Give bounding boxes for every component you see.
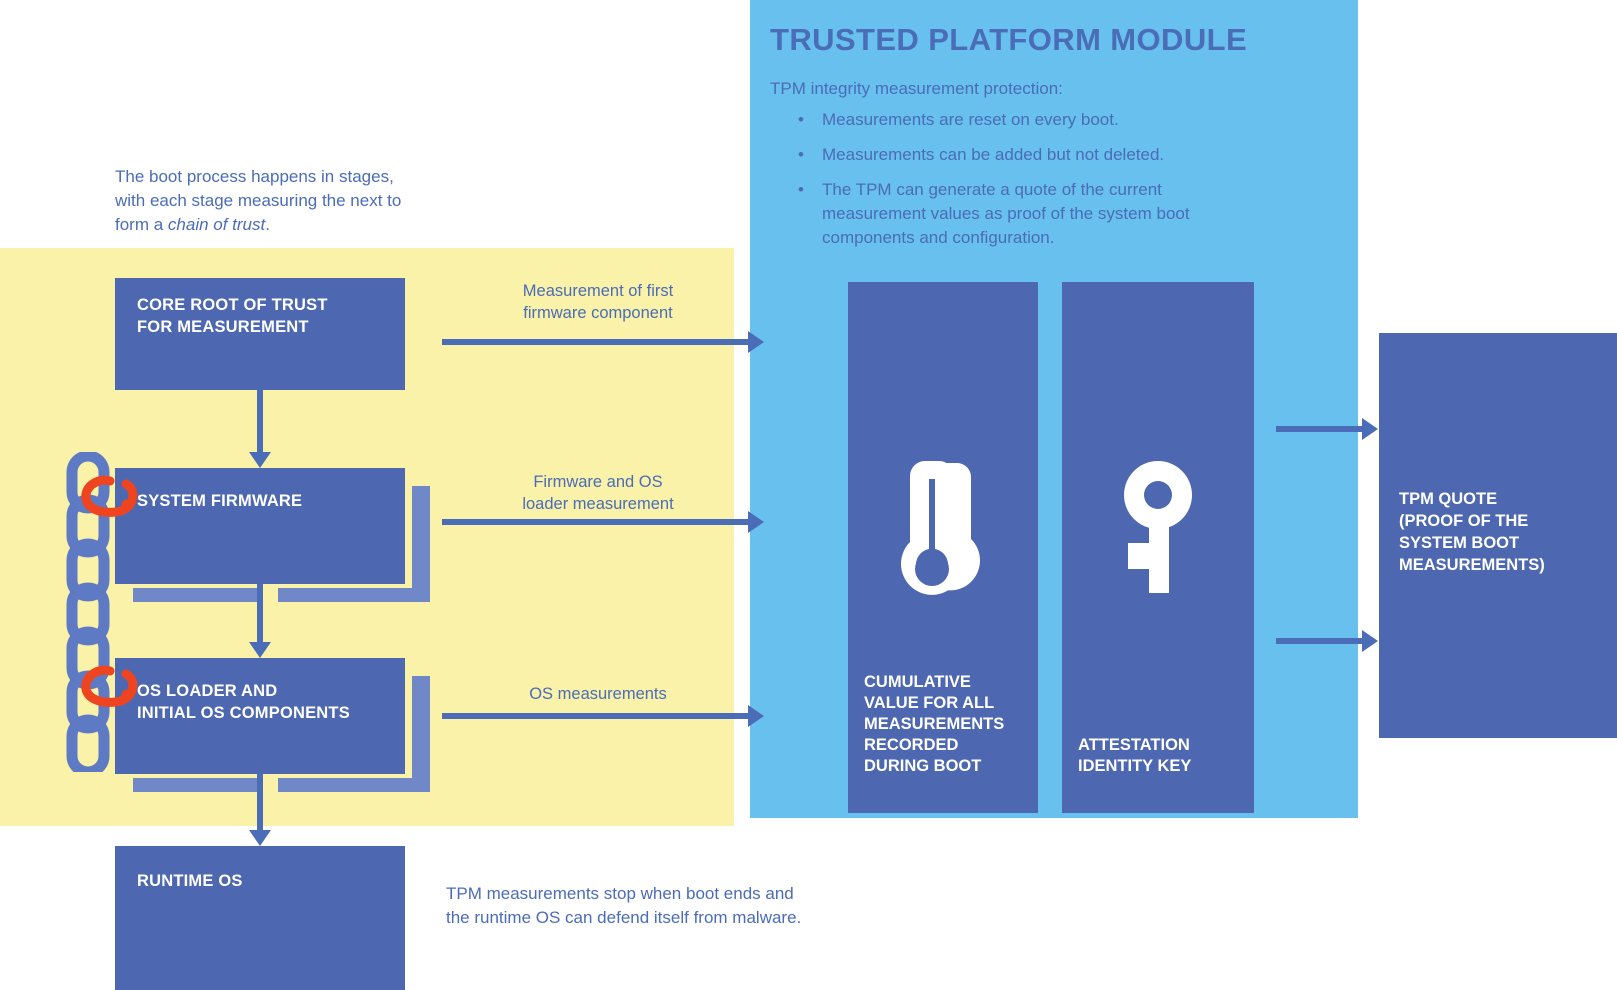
footer-note: TPM measurements stop when boot ends and… <box>446 882 866 930</box>
tpm-panel-subtitle: TPM integrity measurement protection: <box>770 77 1063 101</box>
tpm-quote-label: TPM QUOTE (PROOF OF THE SYSTEM BOOT MEAS… <box>1399 488 1545 576</box>
tpm-inner-label-cumulative-value: CUMULATIVE VALUE FOR ALL MEASUREMENTS RE… <box>864 672 1004 777</box>
firmware-box-shadow-bottom-right <box>278 588 430 602</box>
quote-arrow-from-aik <box>1276 630 1378 652</box>
stage-label-runtime-os: RUNTIME OS <box>137 870 405 892</box>
osloader-box-shadow-bottom-right <box>278 778 430 792</box>
firmware-box-shadow-vertical <box>412 486 430 596</box>
osloader-box-shadow-vertical <box>412 676 430 786</box>
stage-box-system-firmware[interactable]: SYSTEM FIRMWARE <box>115 468 405 584</box>
tpm-bullet-text: Measurements can be added but not delete… <box>822 145 1164 164</box>
bullet-point-icon: • <box>798 143 804 167</box>
tpm-bullet-item: • The TPM can generate a quote of the cu… <box>792 178 1232 250</box>
tpm-bullet-text: Measurements are reset on every boot. <box>822 110 1119 129</box>
flow-arrow-firmware-to-osloader <box>249 584 271 658</box>
tpm-inner-box-cumulative-value[interactable]: CUMULATIVE VALUE FOR ALL MEASUREMENTS RE… <box>848 282 1038 813</box>
arrow-label-firmware-osloader-measurement: Firmware and OS loader measurement <box>443 471 753 515</box>
flow-arrow-crtm-to-firmware <box>249 390 271 468</box>
stage-label-core-root-of-trust: CORE ROOT OF TRUST FOR MEASUREMENT <box>137 294 405 338</box>
stage-box-os-loader[interactable]: OS LOADER AND INITIAL OS COMPONENTS <box>115 658 405 774</box>
measurement-arrow-firmware-osloader <box>442 511 764 533</box>
thermometer-icon <box>848 457 1038 612</box>
measurement-arrow-first-firmware <box>442 331 764 353</box>
intro-line-1: The boot process happens in stages, <box>115 167 394 186</box>
tpm-bullet-item: • Measurements can be added but not dele… <box>792 143 1232 167</box>
arrow-label-os-measurements: OS measurements <box>443 683 753 705</box>
quote-arrow-from-cumulative <box>1276 418 1378 440</box>
stage-box-core-root-of-trust[interactable]: CORE ROOT OF TRUST FOR MEASUREMENT <box>115 278 405 390</box>
measurement-arrow-os <box>442 705 764 727</box>
tpm-panel-title: TRUSTED PLATFORM MODULE <box>770 22 1247 58</box>
stage-label-system-firmware: SYSTEM FIRMWARE <box>137 490 405 512</box>
bullet-point-icon: • <box>798 178 804 202</box>
tpm-bullet-item: • Measurements are reset on every boot. <box>792 108 1232 132</box>
intro-line-2: with each stage measuring the next to <box>115 191 401 210</box>
broken-chain-link-icon <box>80 472 140 524</box>
osloader-box-shadow-bottom-left <box>133 778 263 792</box>
tpm-inner-box-attestation-identity-key[interactable]: ATTESTATION IDENTITY KEY <box>1062 282 1254 813</box>
tpm-bullet-text: The TPM can generate a quote of the curr… <box>822 178 1232 250</box>
stage-box-runtime-os[interactable]: RUNTIME OS <box>115 846 405 990</box>
stage-label-os-loader: OS LOADER AND INITIAL OS COMPONENTS <box>137 680 405 724</box>
intro-line-3-suffix: . <box>265 215 270 234</box>
flow-arrow-osloader-to-runtime <box>249 774 271 846</box>
broken-chain-link-icon <box>80 662 140 714</box>
bullet-point-icon: • <box>798 108 804 132</box>
intro-line-3-prefix: form a <box>115 215 168 234</box>
tpm-bullet-list: • Measurements are reset on every boot. … <box>792 108 1232 261</box>
tpm-quote-box[interactable]: TPM QUOTE (PROOF OF THE SYSTEM BOOT MEAS… <box>1379 333 1617 738</box>
intro-line-3-italic: chain of trust <box>168 215 265 234</box>
intro-description: The boot process happens in stages,with … <box>115 165 445 237</box>
key-icon <box>1062 457 1254 602</box>
firmware-box-shadow-bottom-left <box>133 588 263 602</box>
arrow-label-first-firmware-measurement: Measurement of first firmware component <box>443 280 753 324</box>
tpm-inner-label-attestation-identity-key: ATTESTATION IDENTITY KEY <box>1078 735 1191 777</box>
